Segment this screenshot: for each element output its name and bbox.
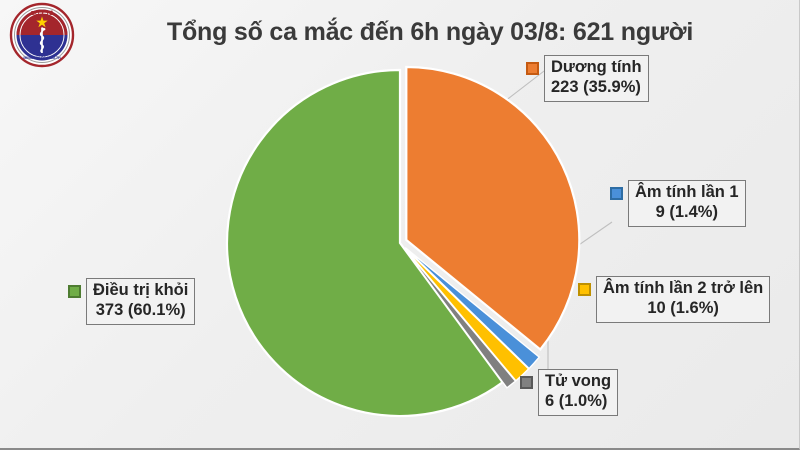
- legend-label-positive: Dương tính: [551, 57, 642, 77]
- legend-frame-recovered: Điều trị khỏi 373 (60.1%): [86, 278, 195, 325]
- legend-swatch-negative-1: [610, 187, 623, 200]
- legend-item-negative-1[interactable]: Âm tính lần 1 9 (1.4%): [610, 180, 746, 227]
- legend-label-recovered: Điều trị khỏi: [93, 280, 188, 300]
- legend-frame-positive: Dương tính 223 (35.9%): [544, 55, 649, 102]
- legend-item-negative-2-plus[interactable]: Âm tính lần 2 trở lên 10 (1.6%): [578, 276, 770, 323]
- legend-value-recovered: 373 (60.1%): [93, 300, 188, 320]
- legend-frame-negative-2-plus: Âm tính lần 2 trở lên 10 (1.6%): [596, 276, 770, 323]
- legend-value-negative-2-plus: 10 (1.6%): [603, 298, 763, 318]
- legend-frame-negative-1: Âm tính lần 1 9 (1.4%): [628, 180, 746, 227]
- legend-swatch-negative-2-plus: [578, 283, 591, 296]
- chart-canvas: BỘ Y TẾ MINISTRY OF HEALTH Tổng số ca mắ…: [0, 0, 800, 450]
- legend-value-deaths: 6 (1.0%): [545, 391, 611, 411]
- legend-label-deaths: Tử vong: [545, 371, 611, 391]
- legend-value-negative-1: 9 (1.4%): [635, 202, 739, 222]
- legend-swatch-recovered: [68, 285, 81, 298]
- legend-item-deaths[interactable]: Tử vong 6 (1.0%): [520, 369, 618, 416]
- legend-label-negative-1: Âm tính lần 1: [635, 182, 739, 202]
- legend-swatch-positive: [526, 62, 539, 75]
- pie-slices: [227, 67, 579, 416]
- legend-item-positive[interactable]: Dương tính 223 (35.9%): [526, 55, 649, 102]
- legend-value-positive: 223 (35.9%): [551, 77, 642, 97]
- legend-frame-deaths: Tử vong 6 (1.0%): [538, 369, 618, 416]
- legend-label-negative-2-plus: Âm tính lần 2 trở lên: [603, 278, 763, 298]
- legend-item-recovered[interactable]: Điều trị khỏi 373 (60.1%): [68, 278, 195, 325]
- legend-swatch-deaths: [520, 376, 533, 389]
